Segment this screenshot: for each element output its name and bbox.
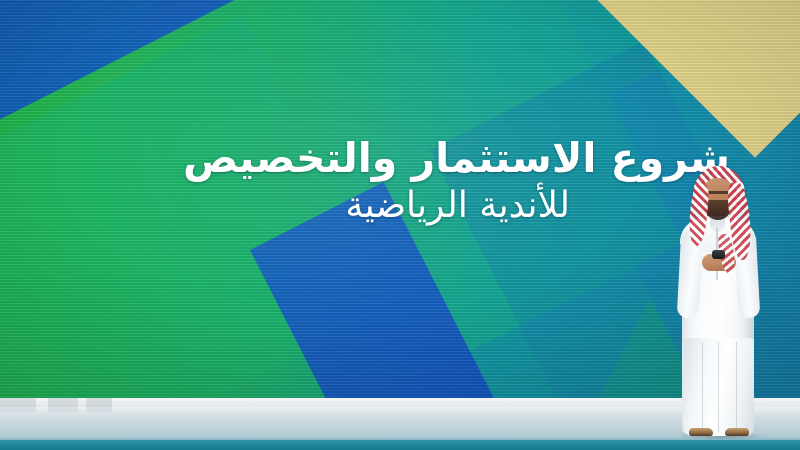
screen-headline-block: شروع الاستثمار والتخصيص للأندية الرياضية <box>0 138 740 226</box>
thobe-fold <box>702 342 703 430</box>
presentation-clicker <box>712 250 725 259</box>
thobe-lower <box>684 338 754 436</box>
sandal-left <box>689 428 713 436</box>
sandal-right <box>725 428 749 436</box>
stage-scene: شروع الاستثمار والتخصيص للأندية الرياضية <box>0 0 800 450</box>
floor-light-block <box>48 398 78 412</box>
speaker-figure <box>660 160 780 445</box>
headline-secondary: للأندية الرياضية <box>0 185 740 226</box>
thobe-fold <box>718 342 719 432</box>
thobe-fold <box>736 342 737 428</box>
headline-primary: شروع الاستثمار والتخصيص <box>0 138 740 179</box>
floor-light-block <box>86 398 112 412</box>
speaker-brow <box>707 191 729 194</box>
floor-light-block <box>0 398 36 412</box>
